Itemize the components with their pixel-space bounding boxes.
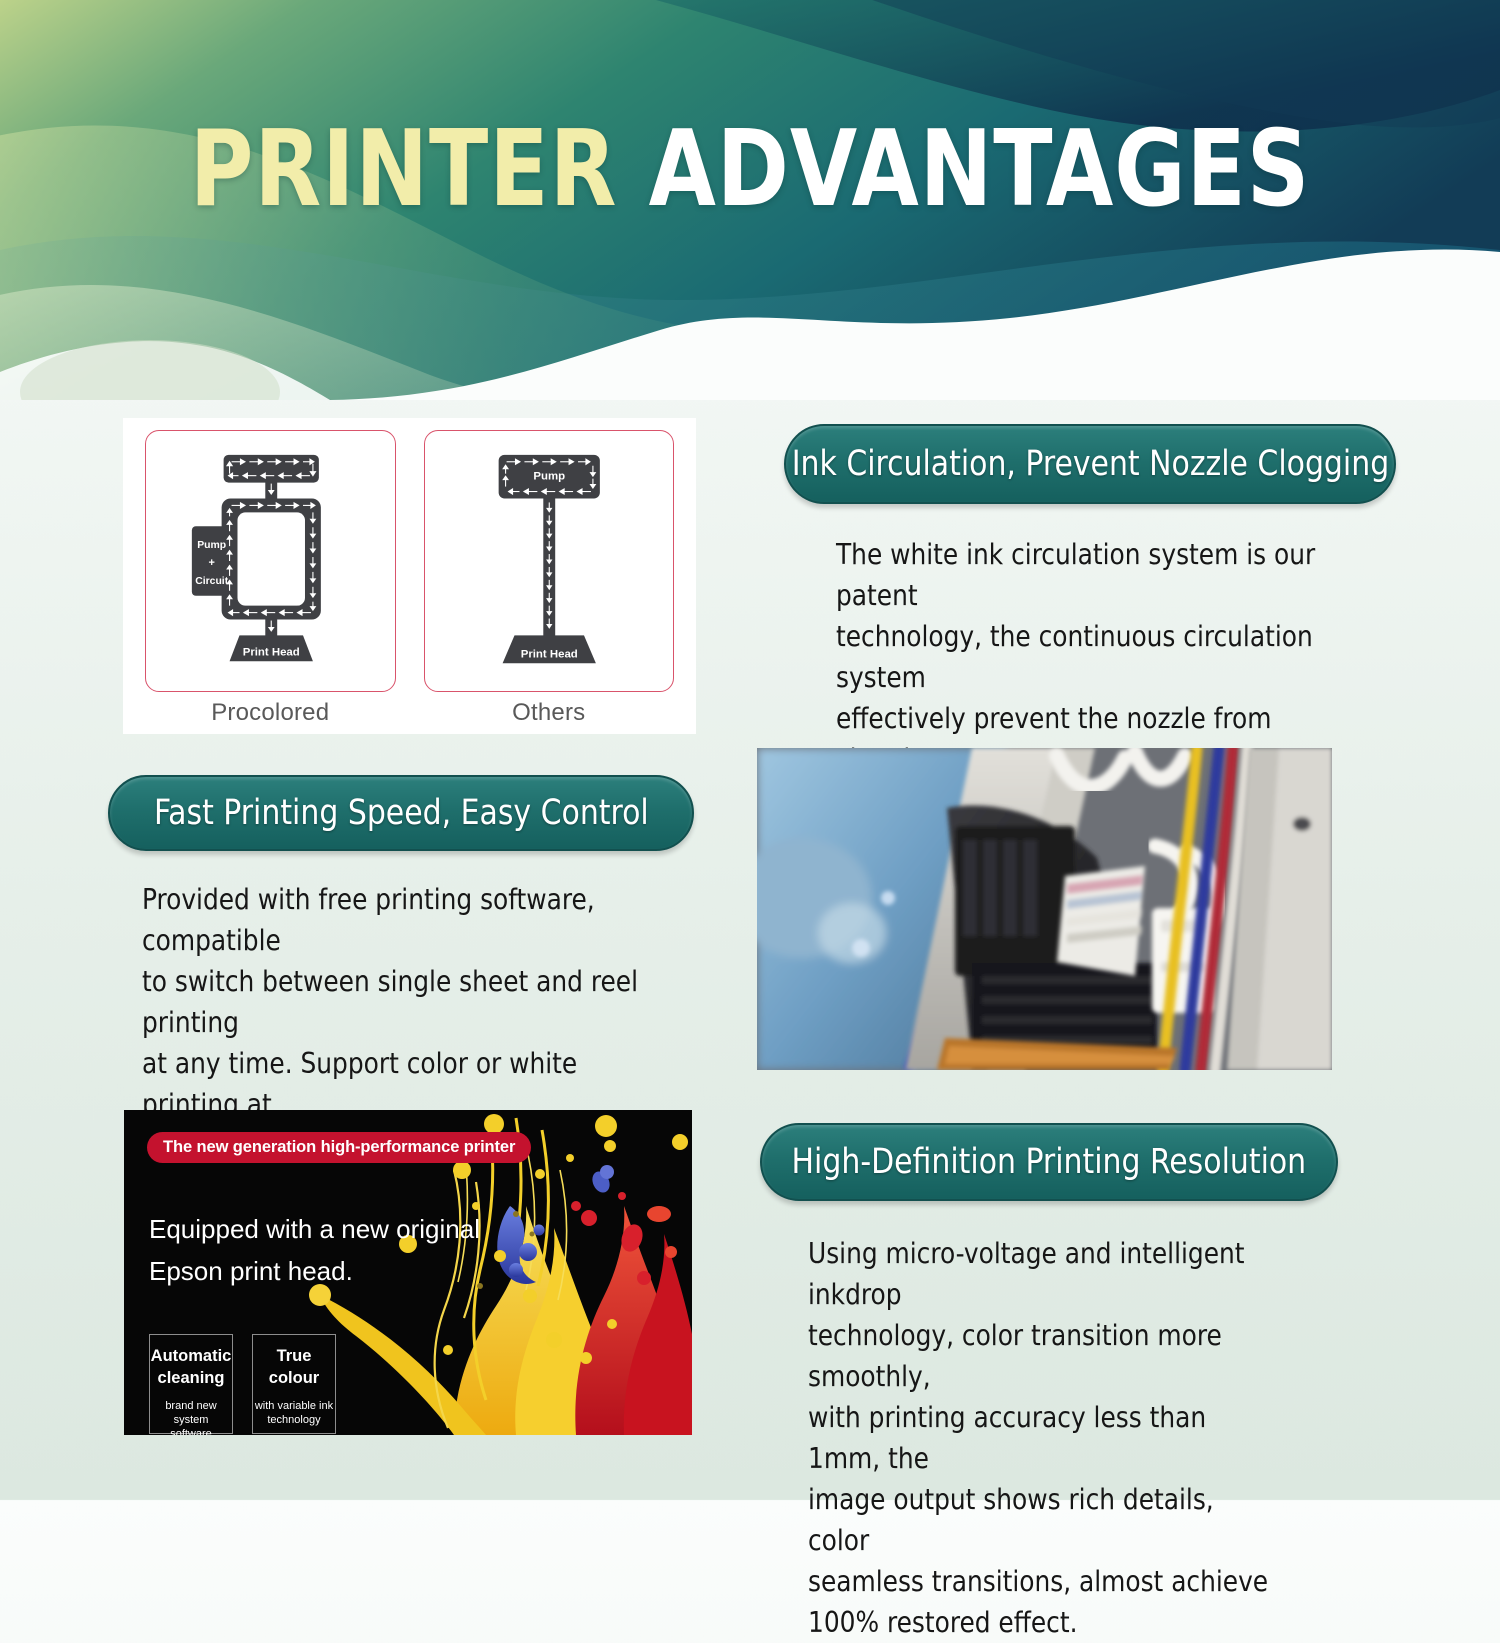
svg-text:Pump: Pump: [533, 471, 565, 483]
page-title-part-two: ADVANTAGES: [649, 108, 1311, 230]
svg-text:Pump: Pump: [197, 540, 226, 551]
promo-feature-box-true-colour: True colour with variable ink technology: [252, 1334, 336, 1434]
feed-diagram-others: Pump Print Head: [425, 431, 674, 691]
promo-badge: The new generation high-performance prin…: [147, 1132, 531, 1163]
ink-system-comparison-panel: Pump + Circuit Print Head Procolored: [123, 418, 696, 734]
photo-printer-internals: [757, 748, 1332, 1070]
comparison-label-others: Others: [512, 699, 585, 727]
promo-feature-title: True colour: [269, 1346, 319, 1390]
svg-text:Circuit: Circuit: [195, 576, 228, 587]
page-title: PRINTER ADVANTAGES: [0, 108, 1500, 230]
page-header: PRINTER ADVANTAGES: [0, 0, 1500, 400]
circulation-diagram-procolored: Pump + Circuit Print Head: [146, 431, 395, 691]
photo-ink-splash-promo: The new generation high-performance prin…: [124, 1110, 692, 1435]
svg-text:+: +: [209, 557, 215, 569]
promo-feature-box-automatic-cleaning: Automatic cleaning brand new system soft…: [149, 1334, 233, 1434]
section-body-high-definition: Using micro-voltage and intelligent inkd…: [808, 1233, 1274, 1643]
promo-feature-subtitle: with variable ink technology: [255, 1399, 333, 1428]
page-title-part-one: PRINTER: [190, 108, 649, 230]
section-heading-high-definition: High-Definition Printing Resolution: [760, 1123, 1338, 1201]
promo-badge-label: The new generation high-performance prin…: [163, 1138, 515, 1157]
section-heading-ink-circulation: Ink Circulation, Prevent Nozzle Clogging: [784, 424, 1396, 504]
diagram-card-others: Pump Print Head: [424, 430, 675, 692]
svg-text:Print Head: Print Head: [243, 646, 300, 658]
printer-internals-illustration: [757, 748, 1332, 1070]
section-heading-fast-printing-label: Fast Printing Speed, Easy Control: [154, 793, 649, 833]
promo-feature-title: Automatic cleaning: [151, 1346, 232, 1390]
diagram-card-procolored: Pump + Circuit Print Head: [145, 430, 396, 692]
comparison-column-others: Pump Print Head Others: [424, 430, 675, 734]
promo-headline: Equipped with a new original Epson print…: [149, 1208, 480, 1292]
promo-feature-boxes: Automatic cleaning brand new system soft…: [149, 1334, 336, 1434]
svg-text:Print Head: Print Head: [520, 648, 577, 660]
promo-feature-subtitle: brand new system software: [150, 1399, 232, 1435]
section-heading-ink-circulation-label: Ink Circulation, Prevent Nozzle Clogging: [791, 444, 1388, 484]
section-heading-fast-printing: Fast Printing Speed, Easy Control: [108, 775, 694, 851]
section-heading-high-definition-label: High-Definition Printing Resolution: [792, 1142, 1307, 1182]
comparison-column-procolored: Pump + Circuit Print Head Procolored: [145, 430, 396, 734]
comparison-label-procolored: Procolored: [211, 699, 329, 727]
